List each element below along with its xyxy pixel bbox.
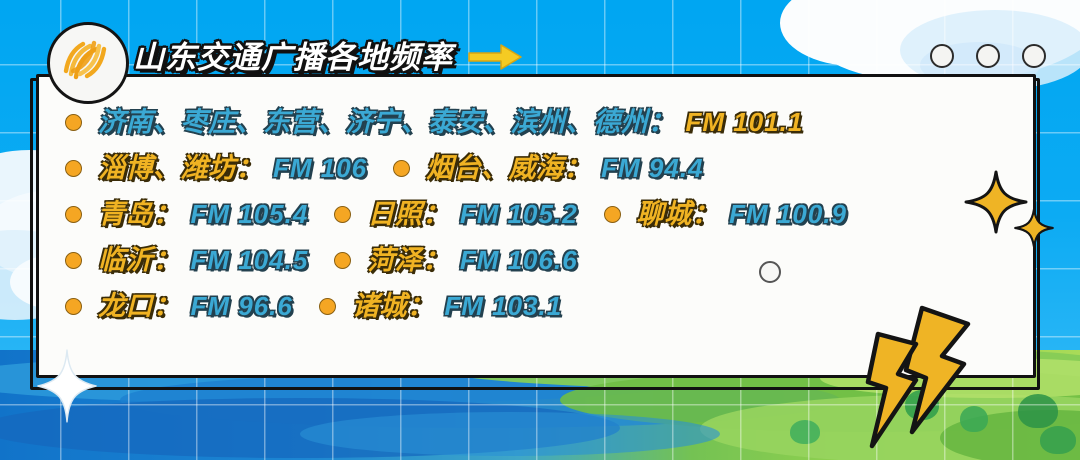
frequency-value: FM 106.6 bbox=[460, 247, 578, 273]
city-names: 济南、枣庄、东营、济宁、泰安、滨州、德州： bbox=[98, 109, 676, 136]
frequency-value: FM 106 bbox=[273, 155, 367, 181]
city-names: 龙口： bbox=[98, 293, 181, 320]
frequency-entry: 青岛：FM 105.4 bbox=[65, 201, 308, 228]
frequency-value: FM 100.9 bbox=[729, 201, 847, 227]
frequency-line: 龙口：FM 96.6诸城：FM 103.1 bbox=[65, 283, 1013, 329]
frequency-value: FM 101.1 bbox=[686, 109, 804, 135]
city-names: 烟台、威海： bbox=[426, 155, 591, 182]
decor-dot-icon bbox=[976, 44, 1000, 68]
tree-shape bbox=[1018, 394, 1058, 428]
bullet-icon bbox=[65, 114, 82, 131]
frequency-entry: 济南、枣庄、东营、济宁、泰安、滨州、德州：FM 101.1 bbox=[65, 109, 803, 136]
header-title-group: 山东交通广播各地频率 bbox=[133, 33, 523, 81]
tree-shape bbox=[960, 406, 988, 432]
frequency-line: 临沂：FM 104.5菏泽：FM 106.6 bbox=[65, 237, 1013, 283]
frequency-line: 淄博、潍坊：FM 106烟台、威海：FM 94.4 bbox=[65, 145, 1013, 191]
frequency-line: 济南、枣庄、东营、济宁、泰安、滨州、德州：FM 101.1 bbox=[65, 99, 1013, 145]
right-arrow-icon bbox=[467, 42, 523, 72]
frequency-value: FM 104.5 bbox=[191, 247, 309, 273]
frequency-entry: 龙口：FM 96.6 bbox=[65, 293, 293, 320]
frequency-list: 济南、枣庄、东营、济宁、泰安、滨州、德州：FM 101.1淄博、潍坊：FM 10… bbox=[39, 77, 1033, 375]
city-names: 青岛： bbox=[98, 201, 181, 228]
bullet-icon bbox=[604, 206, 621, 223]
frequency-value: FM 103.1 bbox=[444, 293, 562, 319]
frequency-entry: 淄博、潍坊：FM 106 bbox=[65, 155, 367, 182]
frequency-entry: 日照：FM 105.2 bbox=[334, 201, 577, 228]
city-names: 诸城： bbox=[352, 293, 435, 320]
frequency-card: 济南、枣庄、东营、济宁、泰安、滨州、德州：FM 101.1淄博、潍坊：FM 10… bbox=[36, 74, 1036, 378]
frequency-value: FM 105.4 bbox=[191, 201, 309, 227]
bullet-icon bbox=[393, 160, 410, 177]
promo-graphic: 济南、枣庄、东营、济宁、泰安、滨州、德州：FM 101.1淄博、潍坊：FM 10… bbox=[0, 0, 1080, 460]
decor-dot-row bbox=[930, 44, 1046, 68]
tree-shape bbox=[1040, 426, 1076, 454]
swirl-logo-icon bbox=[47, 22, 129, 104]
bullet-icon bbox=[65, 252, 82, 269]
frequency-entry: 烟台、威海：FM 94.4 bbox=[393, 155, 703, 182]
city-names: 临沂： bbox=[98, 247, 181, 274]
bullet-icon bbox=[65, 160, 82, 177]
bullet-icon bbox=[334, 206, 351, 223]
city-names: 日照： bbox=[367, 201, 450, 228]
bullet-icon bbox=[65, 298, 82, 315]
landscape-band bbox=[300, 412, 720, 456]
city-names: 菏泽： bbox=[367, 247, 450, 274]
city-names: 聊城： bbox=[637, 201, 720, 228]
frequency-entry: 诸城：FM 103.1 bbox=[319, 293, 562, 320]
frequency-entry: 菏泽：FM 106.6 bbox=[334, 247, 577, 274]
frequency-entry: 临沂：FM 104.5 bbox=[65, 247, 308, 274]
decor-dot-icon bbox=[1022, 44, 1046, 68]
city-names: 淄博、潍坊： bbox=[98, 155, 263, 182]
bullet-icon bbox=[334, 252, 351, 269]
frequency-value: FM 96.6 bbox=[191, 293, 293, 319]
frequency-value: FM 105.2 bbox=[460, 201, 578, 227]
tree-shape bbox=[790, 420, 820, 444]
page-title: 山东交通广播各地频率 bbox=[133, 42, 453, 73]
bullet-icon bbox=[319, 298, 336, 315]
decor-dot-icon bbox=[759, 261, 781, 283]
frequency-line: 青岛：FM 105.4日照：FM 105.2聊城：FM 100.9 bbox=[65, 191, 1013, 237]
bullet-icon bbox=[65, 206, 82, 223]
frequency-entry: 聊城：FM 100.9 bbox=[604, 201, 847, 228]
decor-dot-icon bbox=[930, 44, 954, 68]
tree-shape bbox=[905, 390, 939, 420]
frequency-value: FM 94.4 bbox=[601, 155, 703, 181]
